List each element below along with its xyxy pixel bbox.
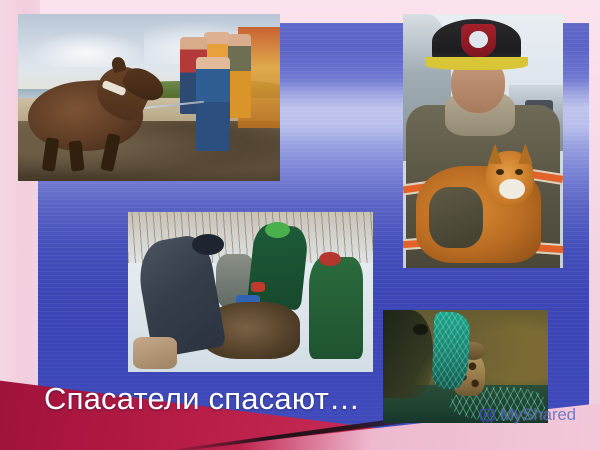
horse-photo-cloud (28, 31, 143, 68)
presentation-slide: Спасатели спасают… MyShared (0, 0, 600, 450)
photo-horse-mud-rescue (18, 14, 280, 181)
fire-photo-cat-eye (515, 169, 523, 175)
fire-photo-helmet-brim (425, 57, 527, 70)
slide-title: Спасатели спасают… (44, 383, 360, 416)
photo-firefighter-cat-rescue (403, 14, 563, 268)
fire-photo-glove (429, 187, 483, 248)
snow-photo-green-hat (265, 222, 290, 238)
leopard-photo-rescue-net (431, 312, 470, 390)
fire-photo-cat-eye (496, 169, 504, 175)
photo-snow-animal-rescue (128, 212, 373, 372)
leopard-photo-wall-hole (413, 324, 428, 335)
fire-photo-helmet-emblem (469, 31, 488, 49)
leopard-photo-shadow (383, 310, 433, 398)
fire-photo-cat-muzzle (499, 179, 525, 199)
snow-photo-sack (133, 337, 177, 369)
snow-photo-dark-hat (192, 234, 224, 255)
horse-photo-rescuer (196, 57, 230, 151)
myshared-logo-icon (478, 406, 497, 425)
myshared-watermark: MyShared (478, 405, 576, 425)
snow-photo-red-gear (251, 282, 266, 292)
snow-photo-rescuer (309, 257, 363, 359)
myshared-watermark-text: MyShared (500, 405, 576, 425)
horse-photo-rescuer (228, 34, 252, 118)
